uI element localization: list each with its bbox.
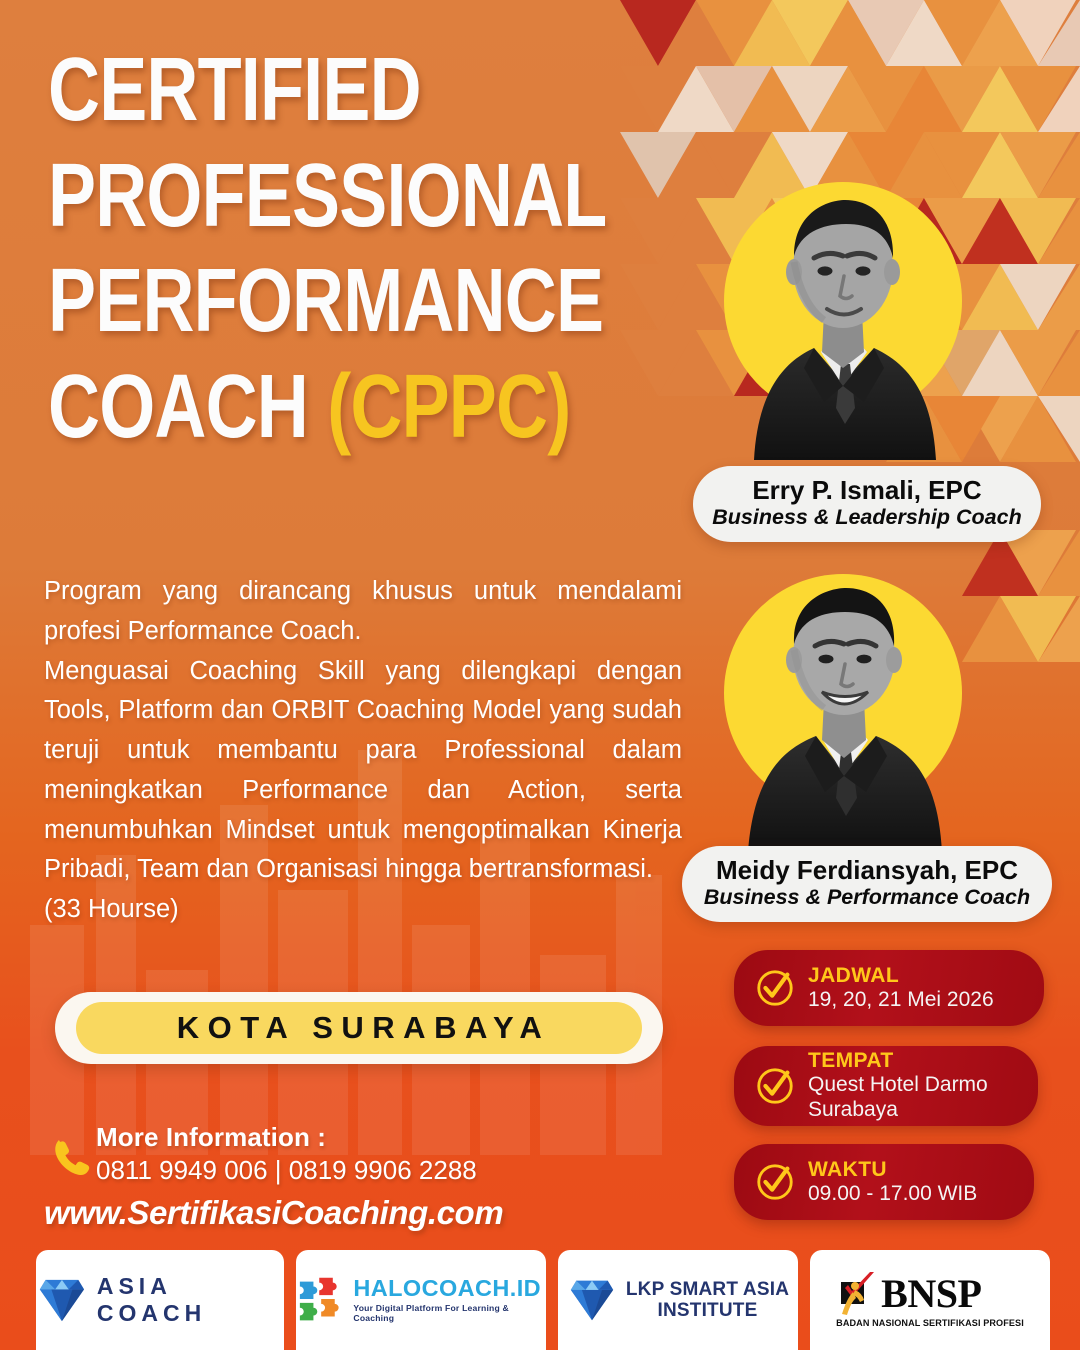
coach-portrait-1 (712, 160, 974, 460)
coach-1-name-badge: Erry P. Ismali, EPC Business & Leadershi… (693, 466, 1041, 542)
check-circle-icon (754, 1161, 796, 1203)
coach-2-name-badge: Meidy Ferdiansyah, EPC Business & Perfor… (682, 846, 1052, 922)
program-description: Program yang dirancang khusus untuk mend… (44, 572, 682, 930)
coach-1-role: Business & Leadership Coach (709, 505, 1025, 530)
logo-card-asia-coach: ASIA COACH (36, 1250, 284, 1350)
coach-portrait-2 (712, 552, 974, 852)
diamond-icon (567, 1277, 617, 1323)
coach-1-name: Erry P. Ismali, EPC (709, 476, 1025, 505)
poster-root: CERTIFIED PROFESSIONAL PERFORMANCE COACH… (0, 0, 1080, 1350)
info-label-jadwal: JADWAL (808, 964, 994, 988)
info-label-waktu: WAKTU (808, 1158, 977, 1182)
logo-card-halocoach: HALOCOACH.ID Your Digital Platform For L… (296, 1250, 546, 1350)
check-circle-icon (754, 1065, 796, 1107)
logo-label-lkp-line2: INSTITUTE (626, 1300, 789, 1321)
title-line-2: PROFESSIONAL (48, 154, 544, 240)
description-paragraph-2: Menguasai Coaching Skill yang dilengkapi… (44, 652, 682, 891)
info-text-tempat: TEMPAT Quest Hotel Darmo Surabaya (808, 1049, 988, 1123)
logo-card-lkp-smart-asia: LKP SMART ASIA INSTITUTE (558, 1250, 798, 1350)
info-text-jadwal: JADWAL 19, 20, 21 Mei 2026 (808, 964, 994, 1013)
bnsp-figure-icon (836, 1272, 878, 1316)
phone-icon (49, 1134, 93, 1178)
footer-logo-bar: ASIA COACH HALOCOACH.ID Your Digital Pla… (0, 1250, 1080, 1350)
coach-2-name: Meidy Ferdiansyah, EPC (698, 856, 1036, 885)
coach-2-photo (728, 564, 958, 852)
city-banner-label: KOTA SURABAYA (168, 1010, 550, 1046)
info-value-jadwal: 19, 20, 21 Mei 2026 (808, 988, 994, 1013)
info-label-tempat: TEMPAT (808, 1049, 988, 1073)
diamond-icon (36, 1275, 88, 1325)
contact-phone-numbers[interactable]: 0811 9949 006 | 0819 9906 2288 (96, 1155, 604, 1186)
logo-label-asia-coach: ASIA COACH (97, 1273, 284, 1327)
info-text-waktu: WAKTU 09.00 - 17.00 WIB (808, 1158, 977, 1207)
poster-title: CERTIFIED PROFESSIONAL PERFORMANCE COACH… (48, 48, 668, 450)
info-pill-tempat: TEMPAT Quest Hotel Darmo Surabaya (734, 1046, 1038, 1126)
logo-card-bnsp: BNSP BADAN NASIONAL SERTIFIKASI PROFESI (810, 1250, 1050, 1350)
info-value-tempat: Quest Hotel Darmo (808, 1073, 988, 1098)
title-line-1: CERTIFIED (48, 48, 544, 134)
description-paragraph-1: Program yang dirancang khusus untuk mend… (44, 572, 682, 652)
coach-1-photo (728, 172, 958, 460)
title-cppc-acronym: (CPPC) (327, 357, 570, 457)
contact-heading: More Information : (96, 1122, 604, 1153)
coach-2-role: Business & Performance Coach (698, 885, 1036, 910)
logo-tagline-bnsp: BADAN NASIONAL SERTIFIKASI PROFESI (836, 1318, 1024, 1328)
logo-label-halocoach: HALOCOACH.ID (353, 1277, 546, 1301)
check-circle-icon (754, 967, 796, 1009)
contact-website[interactable]: www.SertifikasiCoaching.com (44, 1194, 604, 1232)
title-line-4: COACH (CPPC) (48, 365, 544, 451)
info-value-waktu: 09.00 - 17.00 WIB (808, 1182, 977, 1207)
info-pill-waktu: WAKTU 09.00 - 17.00 WIB (734, 1144, 1034, 1220)
info-pill-jadwal: JADWAL 19, 20, 21 Mei 2026 (734, 950, 1044, 1026)
puzzle-icon (296, 1275, 344, 1325)
title-coach-word: COACH (48, 357, 327, 457)
city-banner-inner: KOTA SURABAYA (76, 1002, 642, 1054)
logo-label-bnsp: BNSP (881, 1276, 981, 1312)
info-value-tempat-2: Surabaya (808, 1098, 988, 1123)
title-line-3: PERFORMANCE (48, 259, 544, 345)
logo-tagline-halocoach: Your Digital Platform For Learning & Coa… (353, 1303, 546, 1323)
description-duration: (33 Hourse) (44, 890, 682, 930)
logo-label-lkp-line1: LKP SMART ASIA (626, 1279, 789, 1300)
contact-block: More Information : 0811 9949 006 | 0819 … (44, 1122, 604, 1232)
city-banner: KOTA SURABAYA (55, 992, 663, 1064)
